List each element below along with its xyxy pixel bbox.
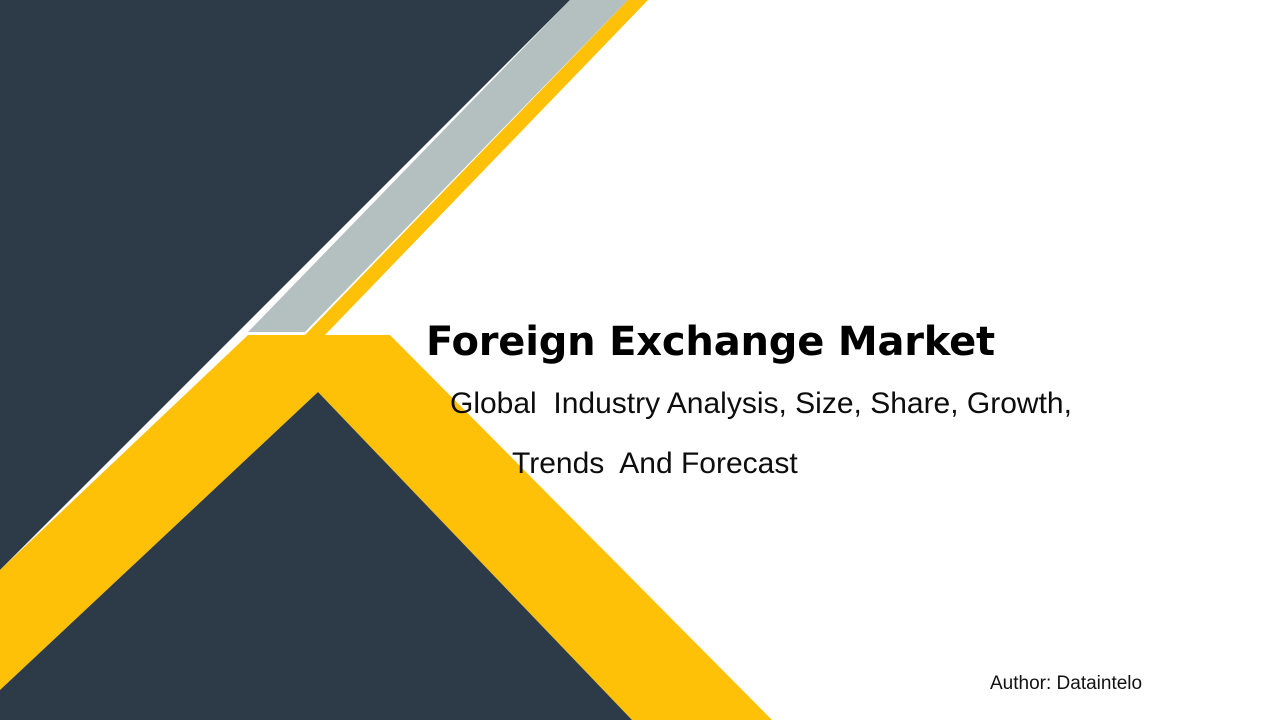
title-slide: Foreign Exchange Market Global Industry … bbox=[0, 0, 1280, 720]
author-label: Author: Dataintelo bbox=[990, 671, 1142, 697]
title-block: Foreign Exchange Market bbox=[426, 318, 1126, 366]
subtitle-block: Global Industry Analysis, Size, Share, G… bbox=[450, 374, 1210, 494]
subtitle-line-2: Trends And Forecast bbox=[450, 434, 1210, 494]
slide-content: Foreign Exchange Market Global Industry … bbox=[0, 0, 1280, 720]
subtitle-line-1: Global Industry Analysis, Size, Share, G… bbox=[450, 374, 1210, 434]
page-title: Foreign Exchange Market bbox=[426, 318, 1126, 366]
